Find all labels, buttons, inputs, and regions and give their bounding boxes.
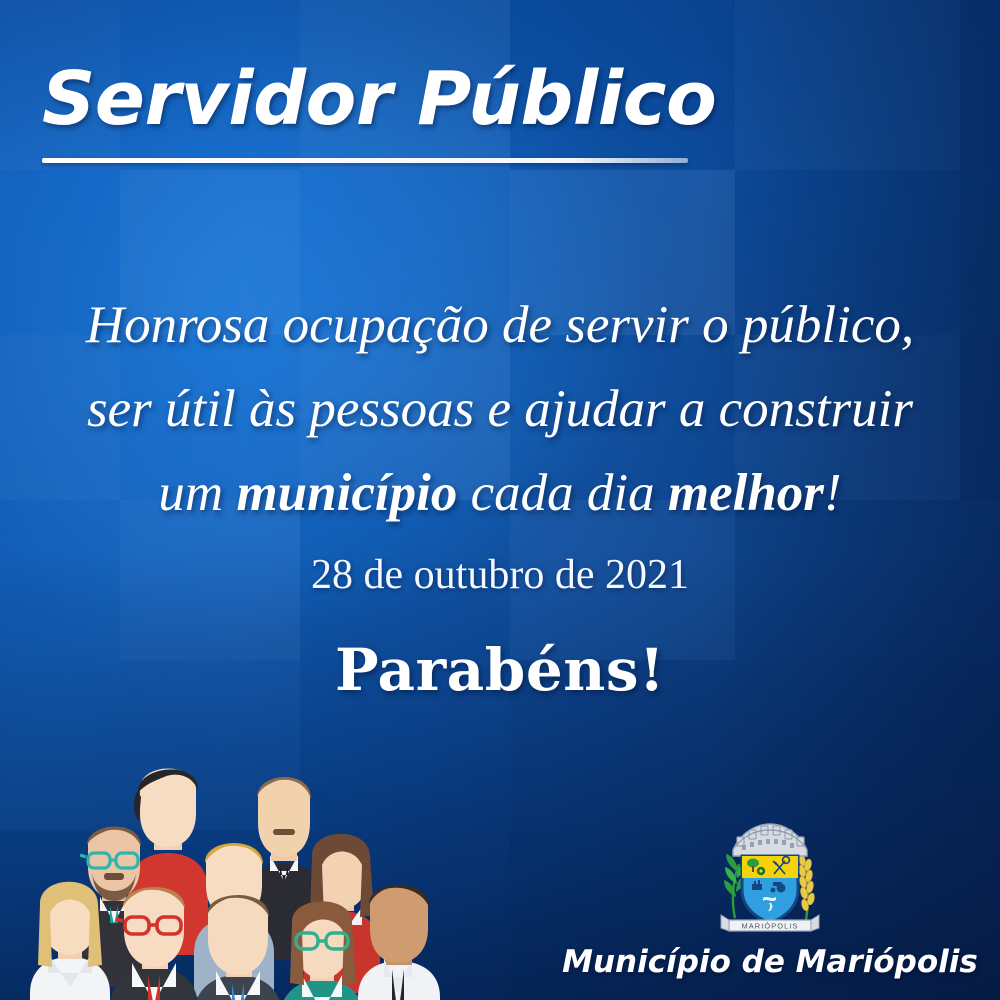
message-run: cada dia xyxy=(457,464,668,522)
message-emphasis: melhor xyxy=(668,464,824,522)
crest-banner-text: MARIÓPOLIS xyxy=(742,922,799,931)
poster-canvas: Servidor Público Honrosa ocupação de ser… xyxy=(0,0,1000,1000)
congratulation-text: Parabéns! xyxy=(0,636,1000,704)
event-date: 28 de outubro de 2021 xyxy=(0,551,1000,599)
message-run: ! xyxy=(824,464,842,522)
message-line-3: um município cada dia melhor! xyxy=(0,451,1000,535)
message-run: Honrosa ocupação de servir o público, xyxy=(86,296,914,354)
message-run: um xyxy=(158,464,236,522)
title-block: Servidor Público xyxy=(42,62,742,163)
page-title: Servidor Público xyxy=(42,62,742,136)
brand-name: Município de Mariópolis xyxy=(560,944,980,980)
wheat-stalk-right xyxy=(797,853,815,920)
message-run: ser útil às pessoas e ajudar a construir xyxy=(87,380,913,438)
message-emphasis: município xyxy=(236,464,457,522)
coat-of-arms-icon: MARIÓPOLIS xyxy=(711,820,829,942)
brand-block: MARIÓPOLIS Município de Mariópolis xyxy=(560,820,980,980)
person-woman-blonde-white-coat xyxy=(30,882,110,1000)
mural-crown-icon xyxy=(733,824,807,856)
group-of-public-servants-illustration xyxy=(18,725,448,1000)
message-line-1: Honrosa ocupação de servir o público, xyxy=(0,283,1000,367)
title-underline-rule xyxy=(42,158,688,163)
message-line-2: ser útil às pessoas e ajudar a construir xyxy=(0,367,1000,451)
crest-gear-icon xyxy=(757,867,765,875)
message-text: Honrosa ocupação de servir o público, se… xyxy=(0,283,1000,535)
shield-icon xyxy=(739,856,801,923)
